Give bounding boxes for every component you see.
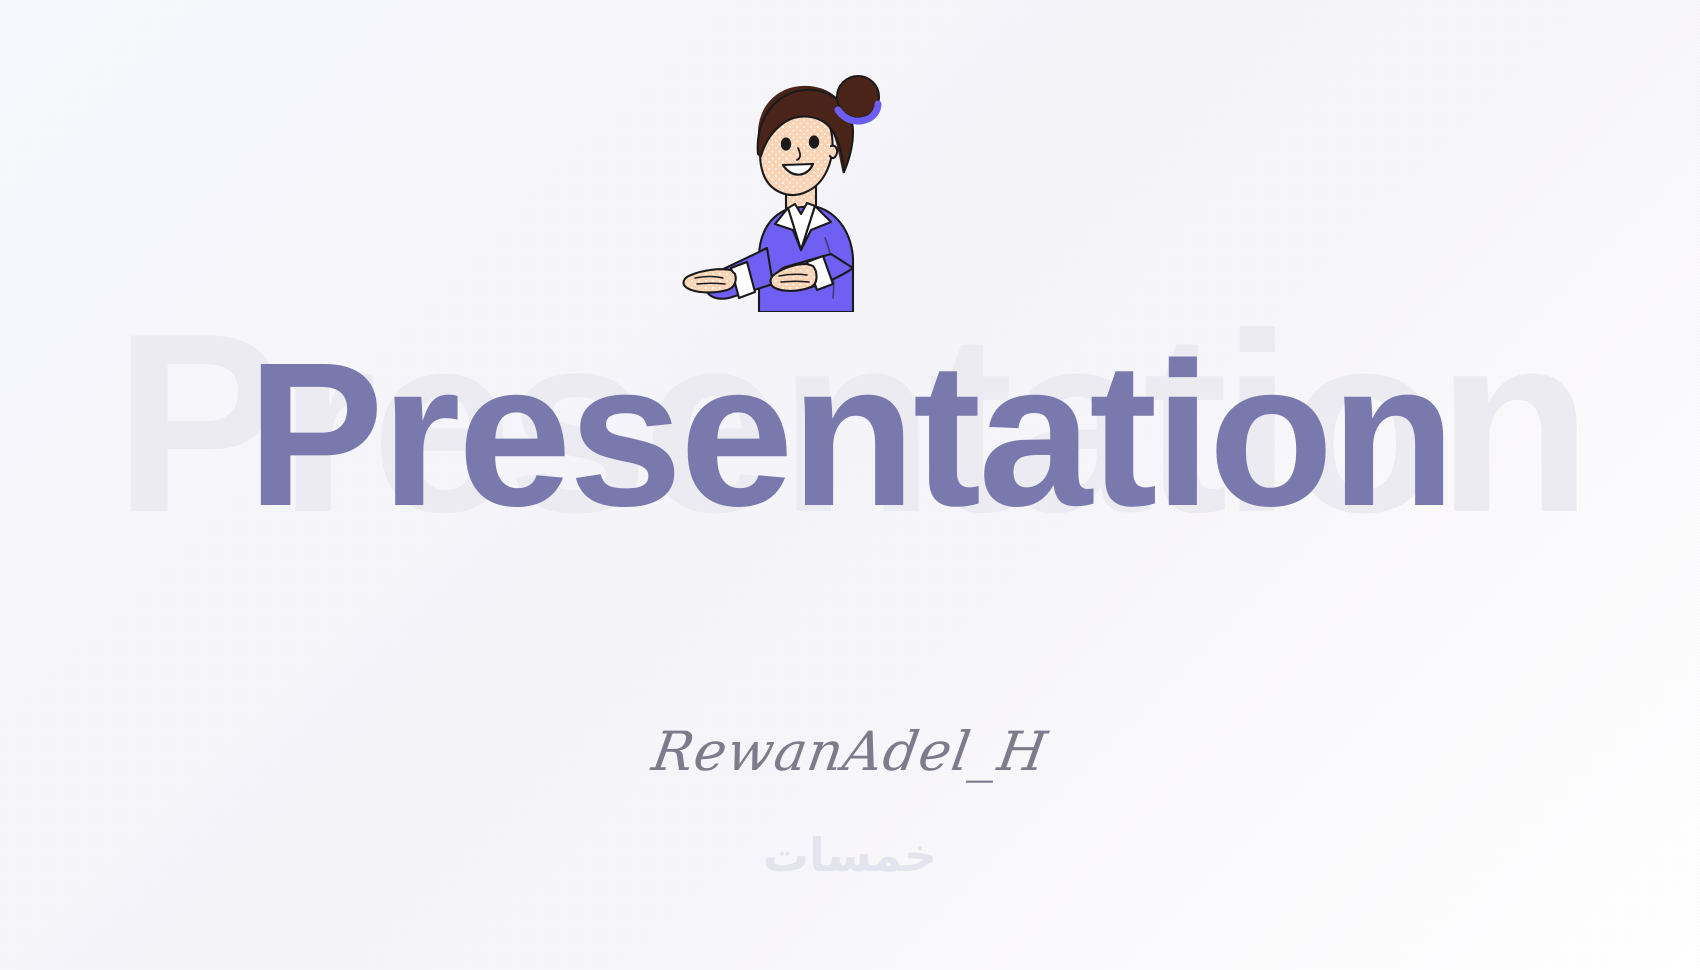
right-eye xyxy=(809,135,819,148)
ear xyxy=(830,146,837,158)
author-signature-text: RewanAdel_H xyxy=(648,722,1051,781)
woman-presenting-illustration xyxy=(655,62,915,312)
khamsat-watermark: خمسات xyxy=(0,832,1700,878)
left-eye xyxy=(781,137,791,150)
author-signature: RewanAdel_H xyxy=(0,722,1700,781)
left-hand xyxy=(684,269,736,292)
presentation-slide: Presentation xyxy=(0,0,1700,970)
page-title: Presentation xyxy=(0,332,1700,537)
